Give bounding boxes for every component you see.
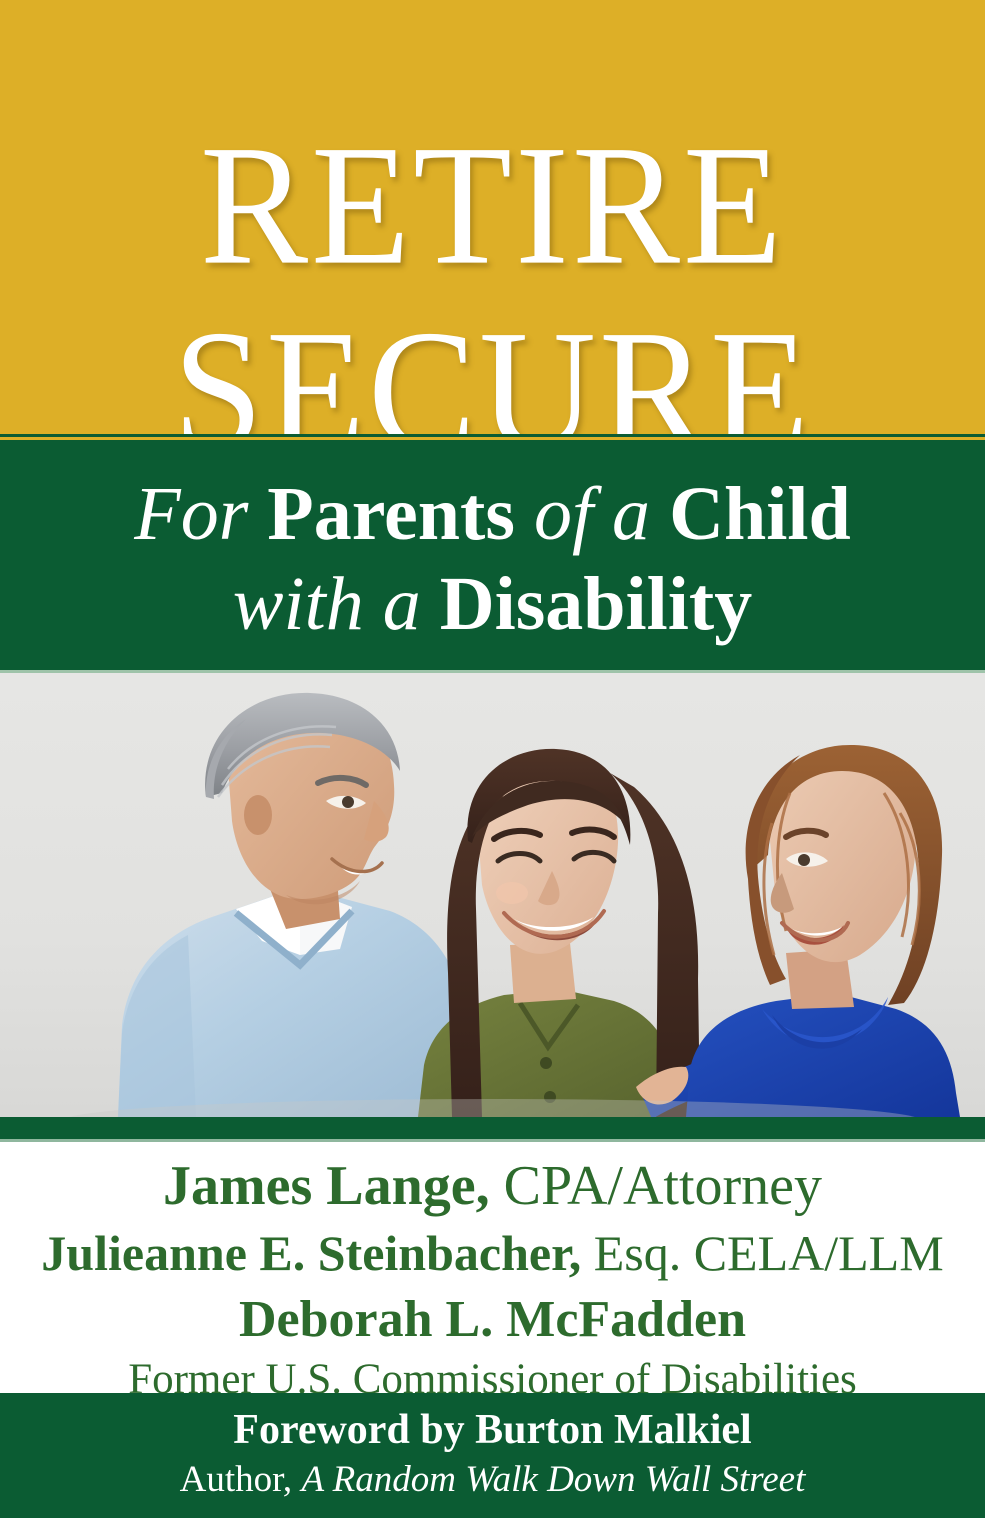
subtitle-word-child: Child xyxy=(669,472,851,556)
subtitle-word-disability: Disability xyxy=(440,562,753,646)
author-line-julieanne-steinbacher: Julieanne E. Steinbacher, Esq. CELA/LLM xyxy=(0,1228,985,1278)
author-name-3: Deborah L. McFadden xyxy=(239,1291,746,1348)
author-line-deborah-mcfadden: Deborah L. McFadden xyxy=(0,1294,985,1346)
photo-bottom-green-band xyxy=(0,1117,985,1139)
foreword-author-credit: Author, A Random Walk Down Wall Street xyxy=(0,1461,985,1498)
author-block: James Lange, CPA/Attorney Julieanne E. S… xyxy=(0,1142,985,1393)
author-name-2: Julieanne E. Steinbacher xyxy=(41,1225,568,1281)
foreword-author-book-title: A Random Walk Down Wall Street xyxy=(301,1459,805,1500)
subtitle-word-for: For xyxy=(134,472,267,556)
book-cover: Retire Secure For Parents of a Child wit… xyxy=(0,0,985,1518)
foreword-author-prefix: Author, xyxy=(180,1459,302,1500)
author-credentials-1: CPA/Attorney xyxy=(504,1155,822,1217)
subtitle-band: For Parents of a Child with a Disability xyxy=(0,440,985,672)
foreword-band: Foreword by Burton Malkiel Author, A Ran… xyxy=(0,1393,985,1518)
author-credentials-2: Esq. CELA/LLM xyxy=(594,1225,944,1281)
subtitle-line-2: with a Disability xyxy=(0,566,985,642)
subtitle-word-parents: Parents xyxy=(267,472,515,556)
foreword-byline: Foreword by Burton Malkiel xyxy=(0,1409,985,1451)
subtitle-word-with-a: with a xyxy=(233,562,440,646)
cover-photograph xyxy=(0,673,985,1117)
title-band: Retire Secure xyxy=(0,0,985,434)
subtitle-word-of-a: of a xyxy=(515,472,669,556)
author-separator-2: , xyxy=(569,1225,594,1281)
author-line-james-lange: James Lange, CPA/Attorney xyxy=(0,1158,985,1214)
book-title-line-2: Secure xyxy=(0,243,985,434)
author-name-1: James Lange xyxy=(163,1155,476,1217)
author-separator-1: , xyxy=(476,1155,504,1217)
subtitle-line-1: For Parents of a Child xyxy=(0,476,985,552)
